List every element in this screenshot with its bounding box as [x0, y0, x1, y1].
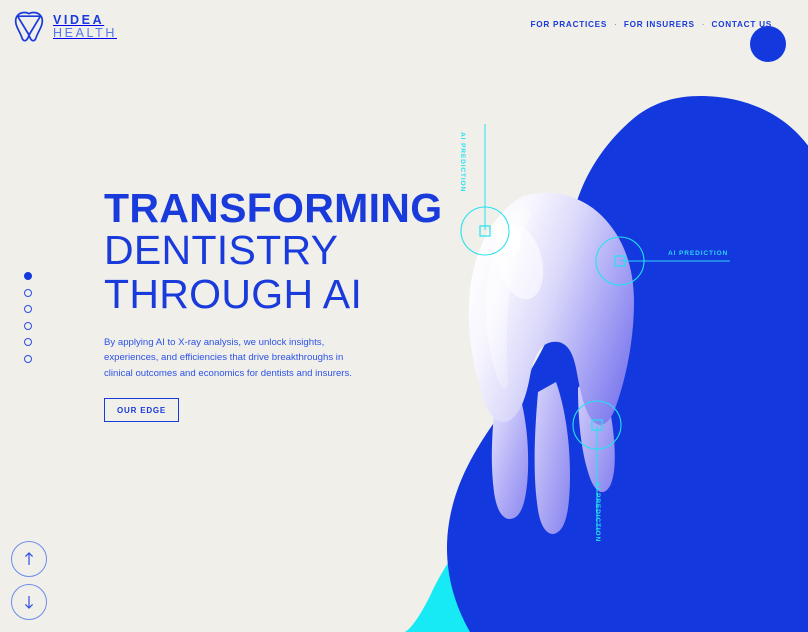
headline-line-2: DENTISTRY: [104, 228, 434, 272]
headline-line-1: TRANSFORMING: [104, 188, 434, 228]
annotation-ai-prediction-1: AI PREDICTION: [460, 118, 530, 263]
nav-item-for-insurers[interactable]: FOR INSURERS: [624, 20, 695, 29]
brand-logo[interactable]: VIDEA HEALTH: [14, 11, 117, 43]
annotation-2-graphic: [594, 235, 734, 289]
slider-dot-6[interactable]: [24, 355, 32, 363]
site-header: VIDEA HEALTH FOR PRACTICES · FOR INSURER…: [0, 0, 808, 58]
arrow-down-icon: [22, 594, 36, 610]
slider-dot-1[interactable]: [24, 272, 32, 280]
annotation-1-label: AI PREDICTION: [459, 132, 466, 192]
videa-tooth-diamond-logo-icon: [14, 11, 44, 43]
slider-dot-2[interactable]: [24, 289, 32, 297]
annotation-ai-prediction-2: AI PREDICTION: [594, 235, 734, 294]
nav-menu-orb-button[interactable]: [750, 26, 786, 62]
brand-name-bottom: HEALTH: [53, 27, 117, 41]
headline-line-3: THROUGH AI: [104, 272, 434, 316]
arrow-up-icon: [22, 551, 36, 567]
brand-wordmark: VIDEA HEALTH: [53, 14, 117, 41]
page-root: AI PREDICTION AI PREDICTION AI PREDICTIO…: [0, 0, 808, 632]
hero-content: TRANSFORMING DENTISTRY THROUGH AI By app…: [104, 188, 434, 422]
annotation-3-graphic: [572, 398, 642, 538]
annotation-3-label: AI PREDICTION: [594, 482, 601, 542]
slider-controls: [11, 541, 47, 620]
nav-item-for-practices[interactable]: FOR PRACTICES: [530, 20, 607, 29]
brand-name-top: VIDEA: [53, 14, 117, 28]
nav-separator-1: ·: [614, 20, 617, 29]
page-title: TRANSFORMING DENTISTRY THROUGH AI: [104, 188, 434, 317]
slider-pagination: [24, 272, 32, 363]
nav-separator-2: ·: [702, 20, 705, 29]
scroll-down-button[interactable]: [11, 584, 47, 620]
slider-dot-4[interactable]: [24, 322, 32, 330]
annotation-2-label: AI PREDICTION: [668, 250, 728, 257]
main-navigation: FOR PRACTICES · FOR INSURERS · CONTACT U…: [530, 20, 772, 29]
annotation-1-graphic: [460, 118, 530, 258]
slider-dot-3[interactable]: [24, 305, 32, 313]
scroll-up-button[interactable]: [11, 541, 47, 577]
hero-paragraph: By applying AI to X-ray analysis, we unl…: [104, 335, 366, 382]
annotation-ai-prediction-3: AI PREDICTION: [572, 398, 642, 543]
slider-dot-5[interactable]: [24, 338, 32, 346]
our-edge-button[interactable]: OUR EDGE: [104, 398, 179, 422]
